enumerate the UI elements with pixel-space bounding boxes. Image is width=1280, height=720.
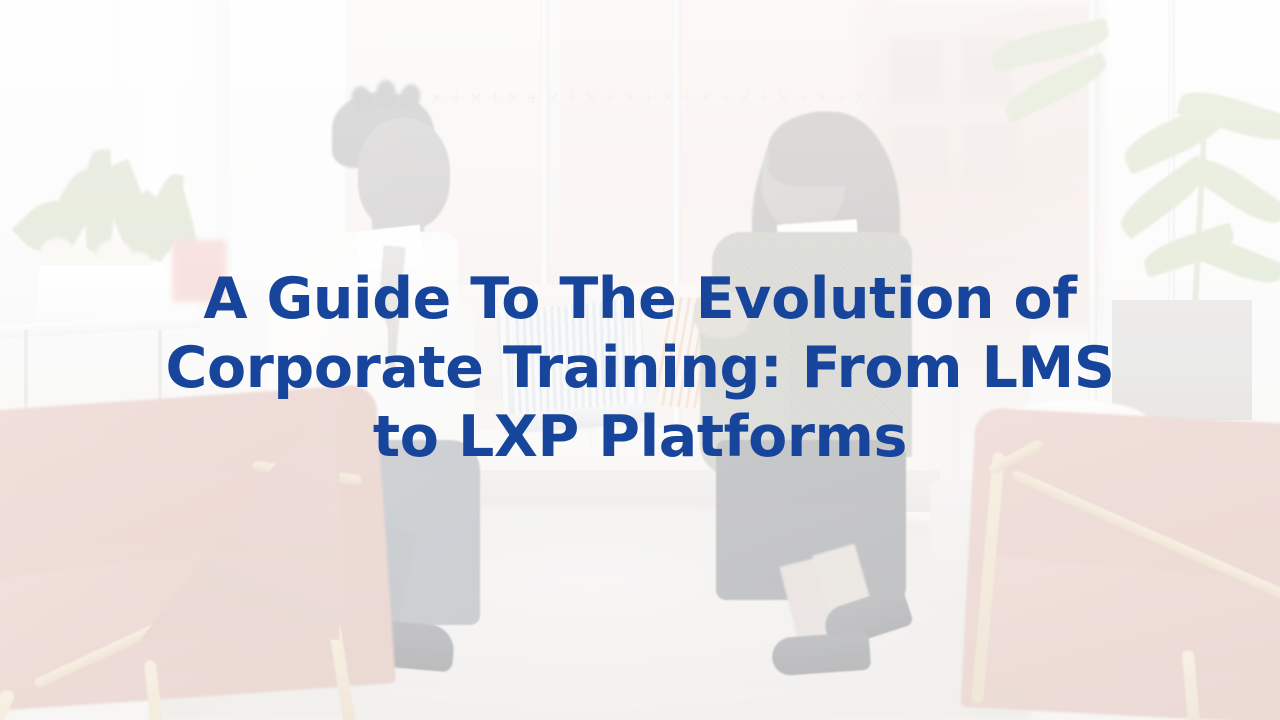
headline-block: A Guide To The Evolution of Corporate Tr… [0, 0, 1280, 720]
headline-line-3: to LXP Platforms [373, 403, 907, 472]
hero-banner: ×+×+×+×+×+×+×+×+×+×+×+×+×+×+×+×+×+×+ [0, 0, 1280, 720]
headline-line-2: Corporate Training: From LMS [166, 334, 1115, 403]
headline-line-1: A Guide To The Evolution of [203, 265, 1076, 334]
